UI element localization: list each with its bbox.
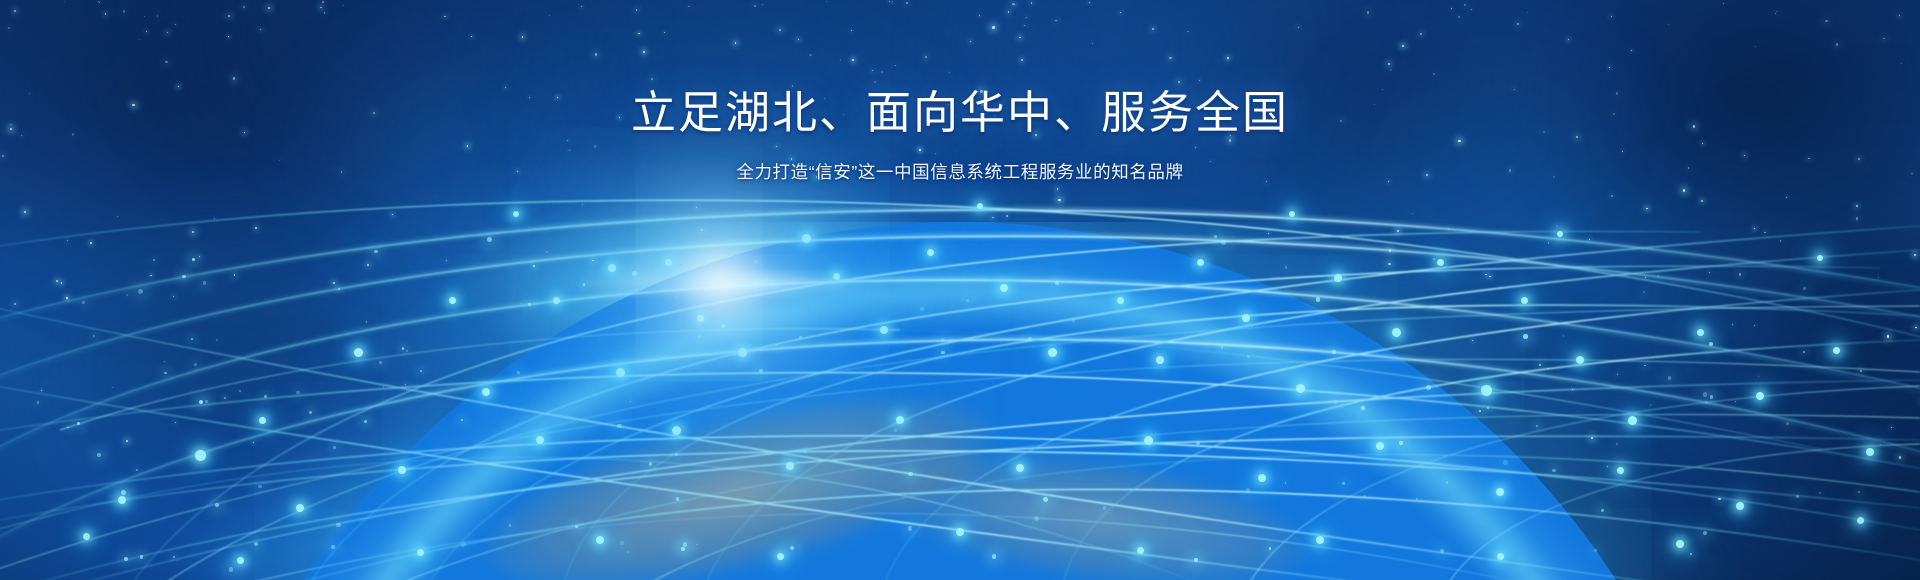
- star: [1754, 325, 1755, 326]
- star: [1611, 16, 1612, 17]
- star: [1433, 73, 1435, 75]
- star: [1012, 3, 1014, 5]
- banner-text: 立足湖北、面向华中、服务全国 全力打造“信安”这一中国信息系统工程服务业的知名品…: [0, 84, 1920, 184]
- star: [643, 51, 645, 53]
- page-subtitle: 全力打造“信安”这一中国信息系统工程服务业的知名品牌: [0, 159, 1920, 184]
- star: [1878, 277, 1879, 278]
- star: [1420, 33, 1422, 35]
- star: [126, 294, 129, 297]
- star: [549, 15, 550, 16]
- star: [892, 1, 893, 2]
- star: [67, 240, 68, 241]
- star: [1780, 240, 1781, 241]
- star: [444, 16, 445, 17]
- star: [1006, 215, 1007, 216]
- star: [139, 39, 141, 41]
- star: [41, 390, 42, 391]
- star: [1089, 2, 1090, 3]
- star: [1057, 188, 1059, 190]
- star: [324, 12, 326, 14]
- star: [636, 9, 638, 11]
- star: [1856, 217, 1858, 219]
- star: [809, 54, 811, 56]
- star: [881, 71, 883, 73]
- star: [64, 1, 65, 2]
- star: [735, 42, 737, 44]
- star: [90, 242, 92, 244]
- star: [638, 33, 639, 34]
- globe-graphic: [180, 222, 1740, 580]
- star: [1915, 327, 1917, 329]
- star: [1055, 20, 1057, 22]
- star: [175, 422, 176, 423]
- star: [522, 36, 524, 38]
- star: [1227, 57, 1229, 59]
- star: [1014, 4, 1015, 5]
- star: [117, 216, 118, 217]
- star: [851, 30, 852, 31]
- star: [1092, 43, 1093, 44]
- star: [1825, 20, 1828, 23]
- star: [1683, 189, 1685, 191]
- star: [1755, 46, 1756, 47]
- star: [1367, 11, 1369, 13]
- star: [1008, 11, 1010, 13]
- star: [1754, 228, 1756, 230]
- star: [1058, 199, 1060, 201]
- star: [1899, 456, 1902, 459]
- star: [233, 77, 236, 80]
- star: [595, 53, 598, 56]
- star: [1527, 12, 1528, 13]
- star: [243, 6, 245, 8]
- star: [895, 65, 896, 66]
- star: [37, 401, 39, 403]
- star: [992, 217, 994, 219]
- star: [24, 211, 26, 213]
- star: [165, 61, 168, 64]
- star: [874, 81, 876, 83]
- star: [123, 10, 125, 12]
- star: [1187, 31, 1188, 32]
- star: [322, 1, 324, 3]
- star: [126, 440, 128, 442]
- star: [1199, 80, 1200, 81]
- star: [175, 24, 176, 25]
- star: [144, 16, 145, 17]
- star: [582, 204, 583, 205]
- star: [889, 1, 890, 2]
- star: [798, 39, 799, 40]
- star: [56, 280, 58, 282]
- star: [840, 59, 842, 61]
- star: [1169, 57, 1172, 60]
- star: [164, 361, 165, 362]
- star: [1120, 12, 1121, 13]
- star: [1914, 254, 1916, 256]
- star: [268, 7, 270, 9]
- star: [970, 41, 971, 42]
- star: [1451, 8, 1452, 9]
- star: [228, 36, 229, 37]
- star: [1458, 16, 1460, 18]
- star: [1152, 28, 1154, 30]
- star: [1758, 376, 1759, 377]
- star: [150, 275, 151, 276]
- star: [664, 32, 665, 33]
- page-title: 立足湖北、面向华中、服务全国: [0, 84, 1920, 142]
- star: [1860, 370, 1862, 372]
- center-flare-streak: [560, 275, 900, 291]
- star: [754, 5, 756, 7]
- star: [61, 282, 63, 284]
- star: [1887, 335, 1889, 337]
- star: [1388, 63, 1390, 65]
- star: [925, 56, 927, 58]
- star: [1701, 200, 1703, 202]
- star: [949, 72, 950, 73]
- hero-banner: 立足湖北、面向华中、服务全国 全力打造“信安”这一中国信息系统工程服务业的知名品…: [0, 0, 1920, 580]
- star: [1471, 9, 1472, 10]
- star: [1464, 4, 1466, 6]
- star: [1031, 2, 1033, 4]
- star: [1412, 213, 1413, 214]
- star: [1021, 59, 1023, 61]
- star: [1024, 25, 1025, 26]
- star: [228, 15, 230, 17]
- star: [1776, 11, 1777, 12]
- star: [581, 6, 582, 7]
- star: [826, 1, 827, 2]
- star: [696, 207, 698, 209]
- star: [14, 303, 16, 305]
- star: [1891, 427, 1892, 428]
- star: [872, 70, 873, 71]
- star: [852, 59, 854, 61]
- star: [1880, 444, 1881, 445]
- star: [992, 26, 995, 29]
- star: [1786, 197, 1787, 198]
- star: [1646, 208, 1648, 210]
- star: [343, 5, 344, 6]
- star: [392, 214, 393, 215]
- star: [157, 15, 158, 16]
- star: [1764, 232, 1766, 234]
- star: [1775, 13, 1776, 14]
- star: [1517, 23, 1519, 25]
- star: [979, 15, 980, 16]
- star: [906, 2, 908, 4]
- star: [1568, 39, 1570, 41]
- star: [1631, 50, 1632, 51]
- star: [1899, 15, 1900, 16]
- star: [66, 297, 68, 299]
- star: [146, 31, 147, 32]
- star: [1836, 43, 1838, 45]
- star: [1611, 195, 1613, 197]
- star: [1390, 69, 1392, 71]
- star: [762, 4, 763, 5]
- star: [14, 10, 16, 12]
- star: [1901, 63, 1902, 64]
- star: [1026, 17, 1027, 18]
- star: [1668, 24, 1669, 25]
- star: [471, 36, 472, 37]
- star: [320, 7, 322, 9]
- star: [153, 259, 155, 261]
- star: [1609, 67, 1610, 68]
- star: [1402, 45, 1404, 47]
- star: [173, 296, 175, 298]
- star: [688, 6, 689, 7]
- star: [1856, 205, 1858, 207]
- star: [214, 218, 215, 219]
- star: [1298, 27, 1299, 28]
- star: [167, 32, 169, 34]
- star: [1723, 3, 1724, 4]
- star: [1019, 37, 1021, 39]
- star: [99, 2, 100, 3]
- star: [105, 13, 107, 15]
- star: [651, 78, 653, 80]
- star: [1883, 38, 1885, 40]
- star: [779, 29, 781, 31]
- star: [260, 29, 262, 31]
- star: [112, 387, 113, 388]
- star: [8, 27, 10, 29]
